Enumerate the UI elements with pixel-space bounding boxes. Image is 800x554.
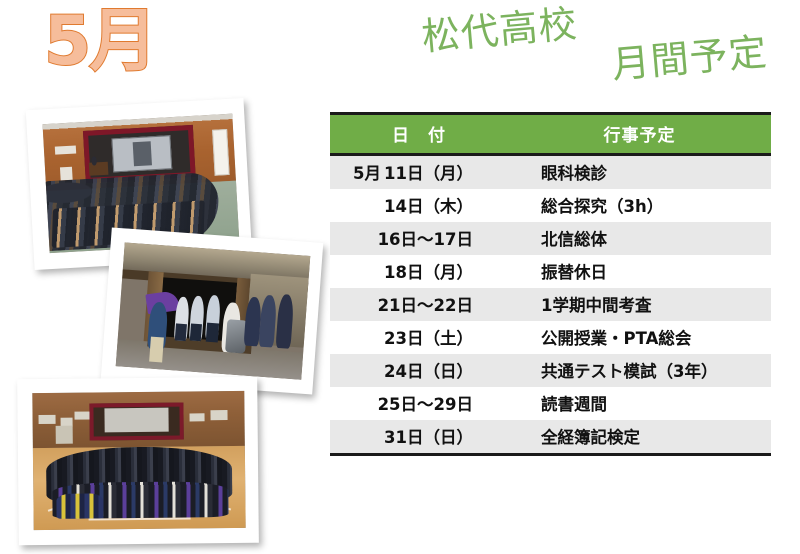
cell-date: 14日（木） [330,189,508,222]
gym-window-5 [211,410,228,420]
cell-event: 公開授業・PTA総会 [508,321,771,354]
fieldtrip-student-3-skirt [206,323,218,342]
photo-gymnasium-image [32,391,245,530]
cell-date: 21日〜22日 [330,288,508,321]
cell-event: 共通テスト模試（3年） [508,354,771,387]
photo-field-trip [101,227,324,394]
photo-gymnasium-group [17,377,259,546]
gym-front-row-left [57,494,104,519]
cell-date-text: 11日（月） [384,164,473,183]
cell-event: 1学期中間考査 [508,288,771,321]
table-row: 31日（日） 全経簿記検定 [330,420,771,455]
monthly-schedule-page: 5月 松代高校 月間予定 [0,0,800,554]
table-row: 21日〜22日 1学期中間考査 [330,288,771,321]
table-body: 5月11日（月） 眼科検診 14日（木） 総合探究（3h） 16日〜17日 北信… [330,155,771,455]
cell-date: 25日〜29日 [330,387,508,420]
cell-date: 16日〜17日 [330,222,508,255]
cell-date: 5月11日（月） [330,155,508,190]
cell-event: 総合探究（3h） [508,189,771,222]
monthly-plan-heading: 月間予定 [609,21,769,89]
gym-window-1 [39,415,56,425]
photo-field-trip-image [116,242,311,379]
school-name-heading: 松代高校 [419,0,579,61]
column-header-date: 日 付 [330,114,508,155]
table-row: 18日（月） 振替休日 [330,255,771,288]
auditorium-plaque-left [55,146,76,155]
table-row: 14日（木） 総合探究（3h） [330,189,771,222]
cell-event: 振替休日 [508,255,771,288]
table-header-row: 日 付 行事予定 [330,114,771,155]
table-row: 23日（土） 公開授業・PTA総会 [330,321,771,354]
table-row: 25日〜29日 読書週間 [330,387,771,420]
auditorium-banner [212,129,230,176]
cell-event: 北信総体 [508,222,771,255]
cell-date: 24日（日） [330,354,508,387]
cell-date: 23日（土） [330,321,508,354]
table-row: 16日〜17日 北信総体 [330,222,771,255]
column-header-event: 行事予定 [508,114,771,155]
fieldtrip-guide-legs [150,336,165,362]
fieldtrip-student-1-skirt [174,323,186,341]
table-row: 24日（日） 共通テスト模試（3年） [330,354,771,387]
cell-event: 読書週間 [508,387,771,420]
fieldtrip-student-2-skirt [189,323,201,341]
gym-stage-screen [105,408,169,432]
auditorium-projector-screen [112,135,173,172]
cell-event: 眼科検診 [508,155,771,190]
cell-event: 全経簿記検定 [508,420,771,455]
month-title: 5月 [44,8,155,76]
auditorium-plaque-lower [60,167,72,181]
cell-date: 18日（月） [330,255,508,288]
monthly-schedule-table: 日 付 行事予定 5月11日（月） 眼科検診 14日（木） 総合探究（3h） 1… [330,112,771,456]
cell-date: 31日（日） [330,420,508,455]
cell-month-prefix: 5月 [353,164,381,183]
auditorium-speaker [91,156,97,165]
gym-window-4 [189,413,204,421]
gym-door [56,426,73,444]
table-row: 5月11日（月） 眼科検診 [330,155,771,190]
